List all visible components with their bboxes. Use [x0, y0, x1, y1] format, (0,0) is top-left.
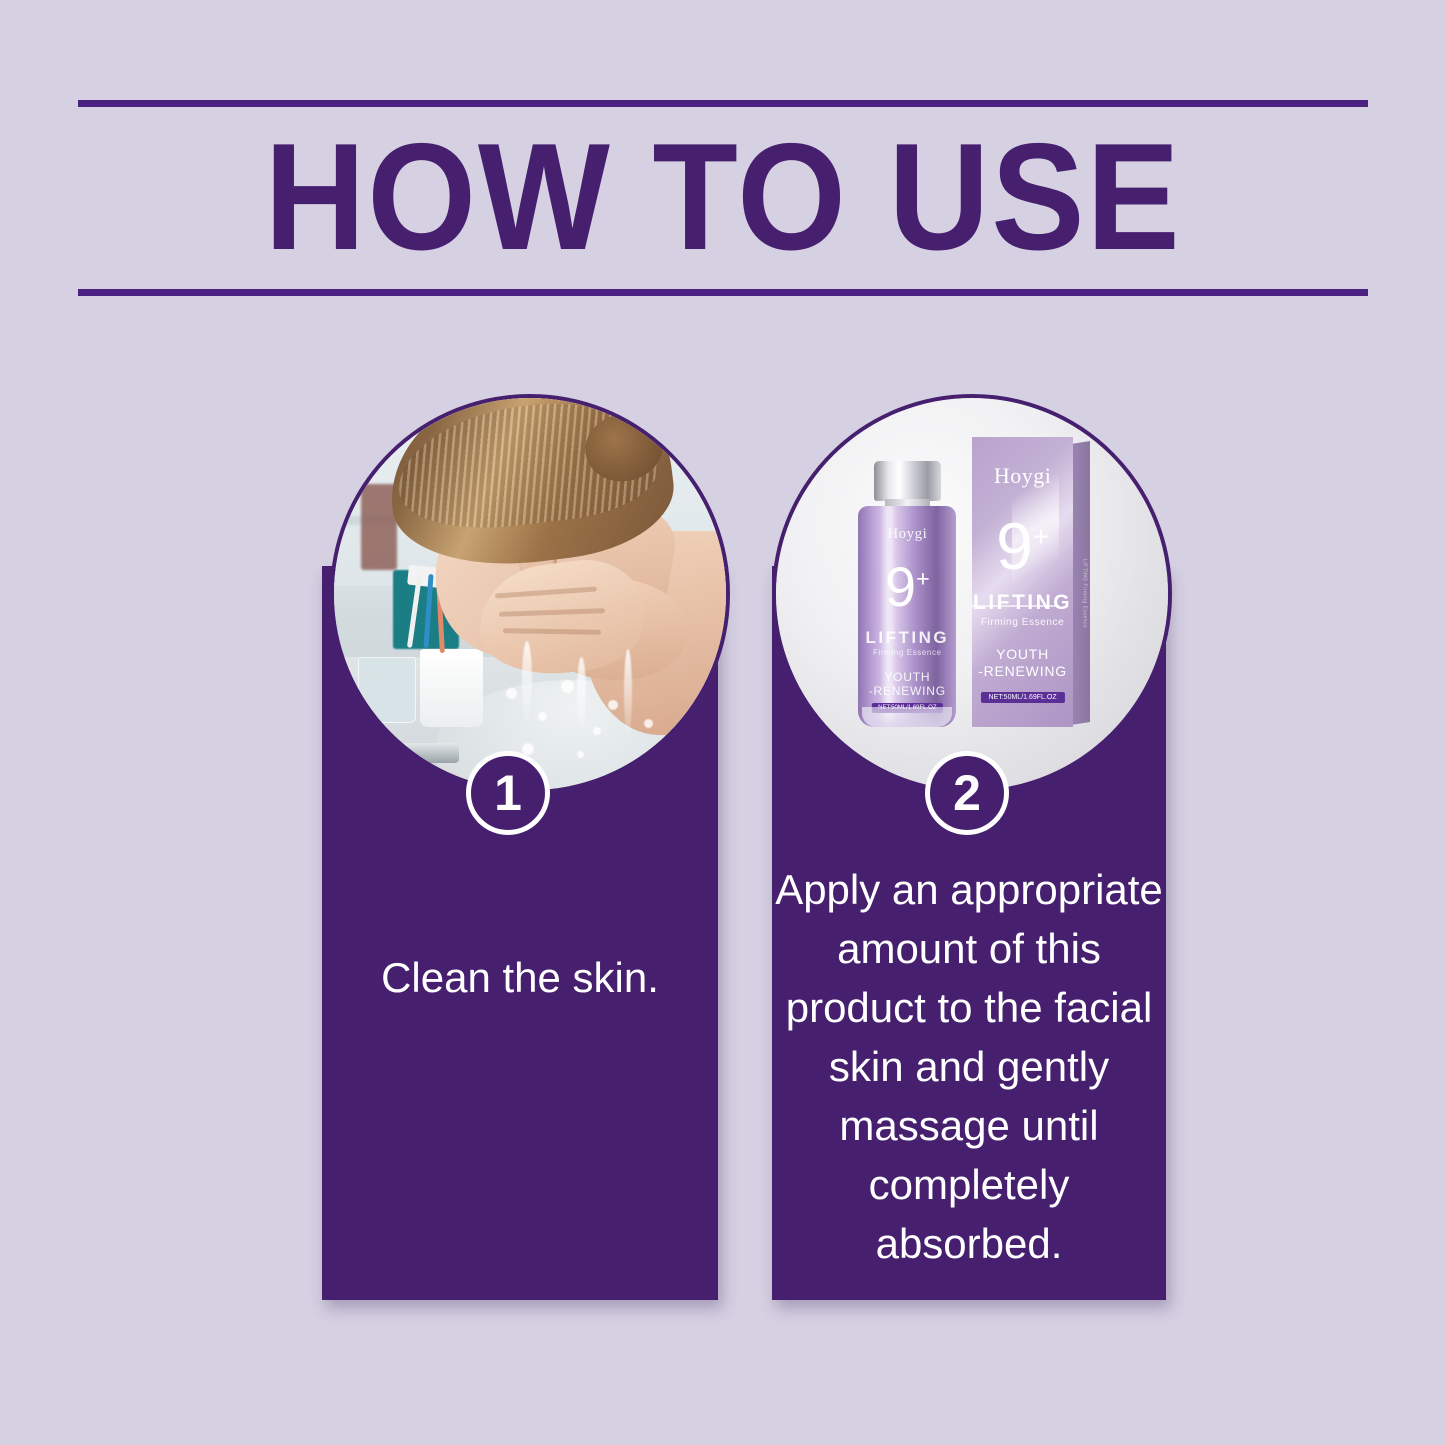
- carton-claim-line-1: YOUTH: [996, 646, 1049, 662]
- step-1-photo: [330, 394, 730, 794]
- carton-side-text: LIFTING Firming Essence: [1081, 559, 1087, 628]
- carton-front-panel: Hoygi 9+ LIFTING Firming Essence YOUTH -…: [972, 437, 1073, 727]
- product-carton: Hoygi 9+ LIFTING Firming Essence YOUTH -…: [972, 437, 1090, 727]
- step-1-caption: Clean the skin.: [322, 950, 718, 1006]
- step-number-badge-2: 2: [925, 751, 1009, 835]
- infographic-page: HOW TO USE: [0, 0, 1445, 1445]
- faucet-base: [365, 755, 392, 782]
- bottle-number-plus: +: [916, 565, 930, 591]
- bottle-claim-line-2: -RENEWING: [869, 684, 946, 698]
- bottle-claim-line-1: YOUTH: [884, 670, 930, 684]
- title-rule-bottom: [78, 289, 1368, 296]
- page-title-block: HOW TO USE: [78, 100, 1368, 296]
- carton-net-content: NET:50ML/1.69FL.OZ: [981, 692, 1065, 703]
- bottle-claim: YOUTH -RENEWING: [858, 670, 956, 698]
- bottle-cap: [874, 461, 941, 501]
- page-title: HOW TO USE: [130, 107, 1317, 289]
- bottle-subtitle: Firming Essence: [858, 648, 956, 657]
- bottle-body: Hoygi 9+ LIFTING Firming Essence YOUTH -…: [858, 506, 956, 727]
- carton-title: LIFTING: [972, 591, 1073, 615]
- bottle-title: LIFTING: [858, 628, 956, 648]
- water-stream: [577, 657, 586, 729]
- step-number-badge-1: 1: [466, 751, 550, 835]
- washing-face-illustration: [334, 398, 726, 790]
- carton-claim-line-2: -RENEWING: [978, 663, 1067, 679]
- carton-subtitle: Firming Essence: [972, 617, 1073, 628]
- carton-brand: Hoygi: [972, 463, 1073, 489]
- carton-number-value: 9: [996, 509, 1033, 583]
- product-bottle: Hoygi 9+ LIFTING Firming Essence YOUTH -…: [858, 461, 956, 728]
- carton-claim: YOUTH -RENEWING: [972, 646, 1073, 679]
- product-illustration: Hoygi 9+ LIFTING Firming Essence YOUTH -…: [776, 398, 1168, 790]
- water-droplet: [538, 712, 547, 721]
- carton-number: 9+: [972, 513, 1073, 579]
- water-droplet: [577, 751, 584, 758]
- title-rule-top: [78, 100, 1368, 107]
- carton-number-plus: +: [1033, 521, 1049, 552]
- bottle-brand: Hoygi: [858, 526, 956, 543]
- step-2-photo: Hoygi 9+ LIFTING Firming Essence YOUTH -…: [772, 394, 1172, 794]
- bottle-number: 9+: [858, 559, 956, 615]
- water-droplet: [593, 727, 601, 735]
- step-2-caption: Apply an appropriate amount of this prod…: [772, 860, 1166, 1273]
- glass-tumbler: [358, 657, 417, 724]
- bottle-base: [862, 707, 952, 727]
- white-cup: [420, 649, 483, 727]
- carton-divider: [972, 605, 1059, 607]
- bottle-number-value: 9: [885, 555, 916, 618]
